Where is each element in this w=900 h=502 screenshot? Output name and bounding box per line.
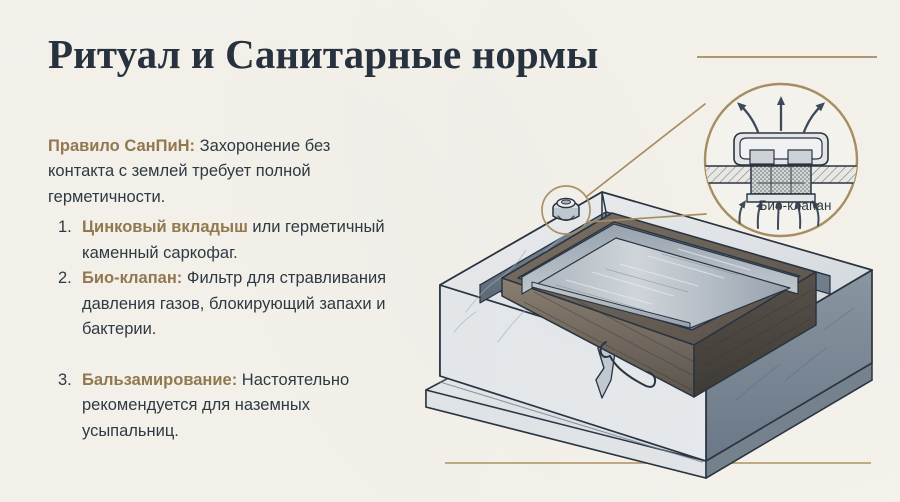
sarcophagus-illustration [406,80,900,480]
page-title: Ритуал и Санитарные нормы [48,31,598,78]
list-item-lead: Био-клапан: [82,269,182,287]
list-item-number: 2. [58,266,78,292]
bio-valve-fitting [553,198,579,220]
title-accent-rule [697,56,877,58]
list-item-lead: Бальзамирование: [82,371,237,389]
list-item: 2.Био-клапан: Фильтр для стравливания да… [58,266,410,343]
slide-canvas: Ритуал и Санитарные нормы Правило СанПиН… [0,0,900,502]
intro-lead: Правило СанПиН: [48,137,195,155]
rules-list: 1.Цинковый вкладыш или герметичный камен… [58,215,410,444]
list-item-lead: Цинковый вкладыш [82,218,248,236]
intro-paragraph: Правило СанПиН: Захоронение без контакта… [48,134,400,211]
list-item-number: 3. [58,368,78,394]
list-item-number: 1. [58,215,78,241]
list-item: 1.Цинковый вкладыш или герметичный камен… [58,215,410,266]
callout-label: Био-клапан [740,198,850,214]
list-item: 3.Бальзамирование: Настоятельно рекоменд… [58,368,410,445]
